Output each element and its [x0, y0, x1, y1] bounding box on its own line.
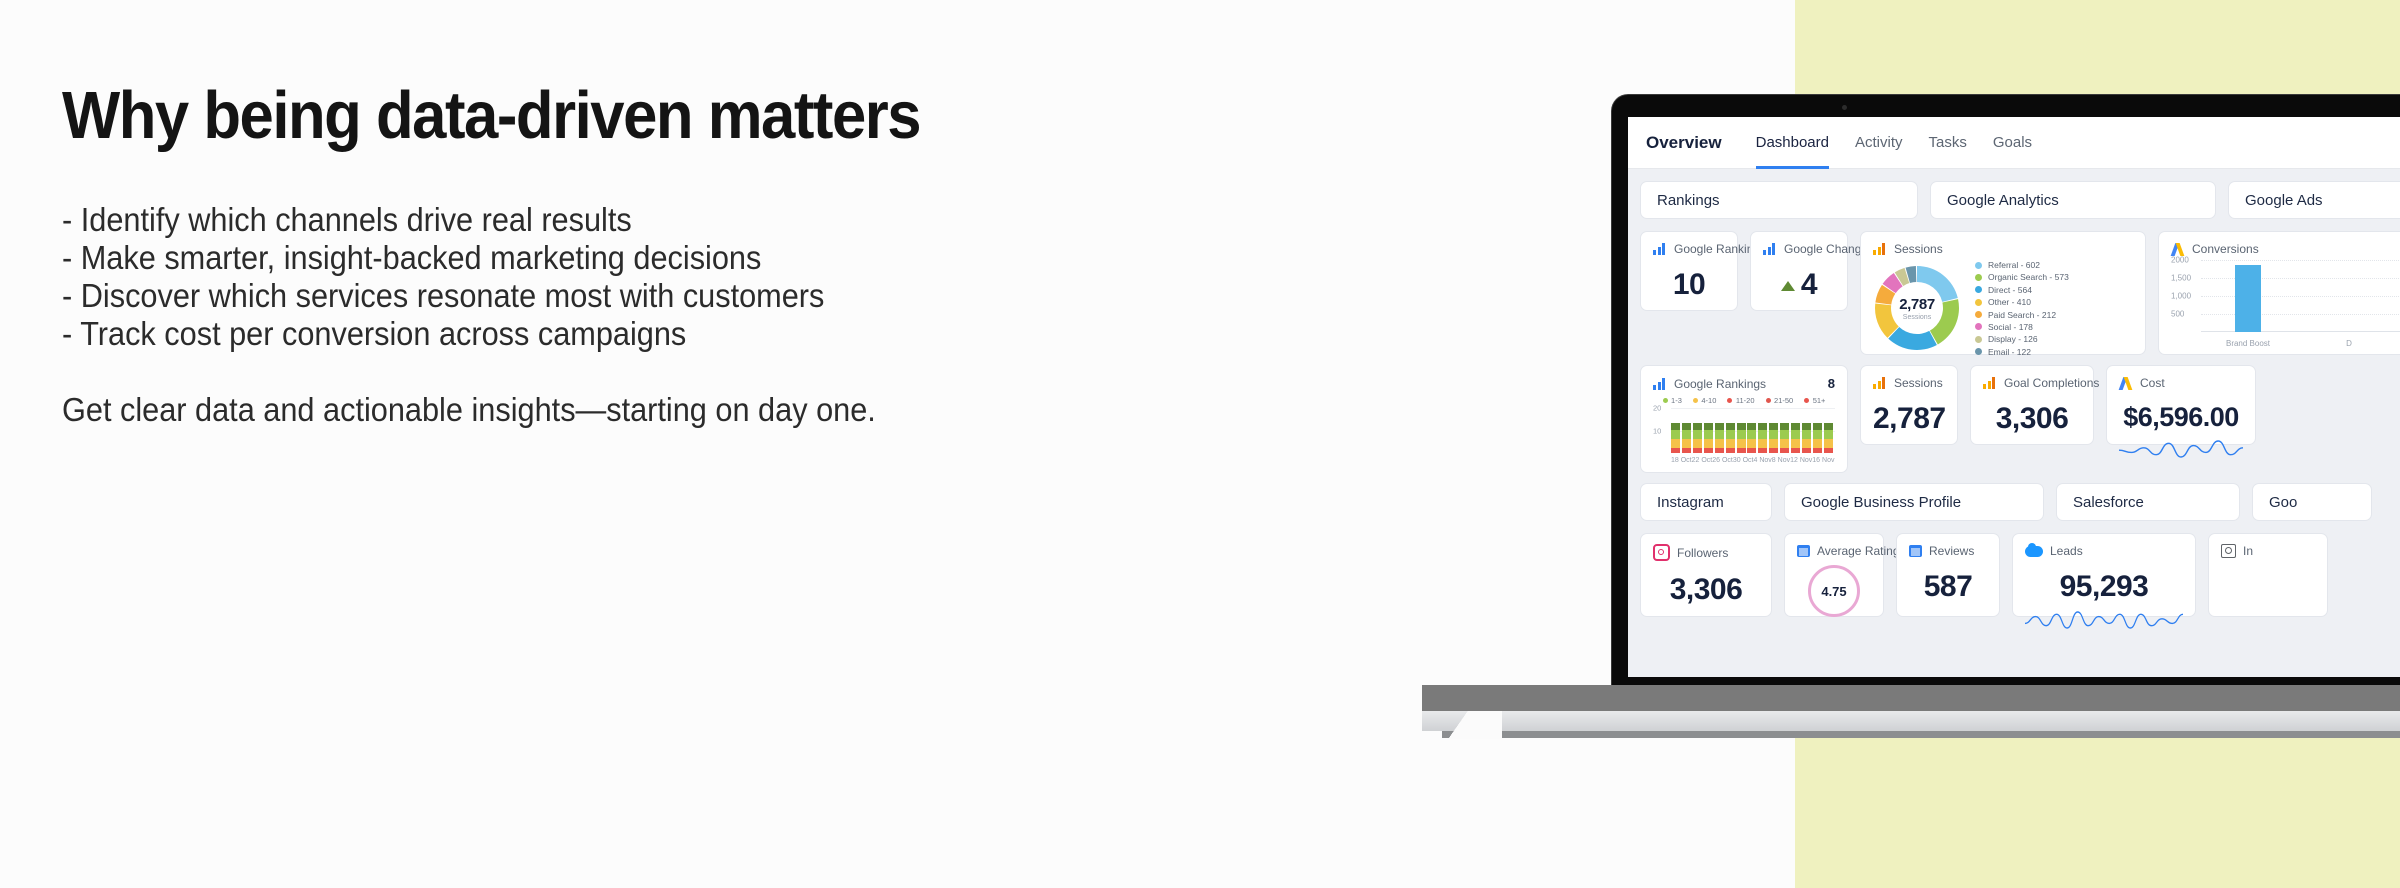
- card-title: Goal Completions: [1983, 376, 2081, 390]
- card-value: 4.75: [1821, 584, 1846, 599]
- bar-segment: [1758, 430, 1767, 439]
- section-google-ads[interactable]: Google Ads: [2228, 181, 2400, 219]
- bar-segment: [1704, 423, 1713, 430]
- card-label: Sessions: [1894, 242, 1943, 256]
- card-title: Followers: [1653, 544, 1759, 561]
- ga-bars-icon: [1983, 377, 1997, 389]
- rating-ring: 4.75: [1808, 565, 1860, 617]
- bar-segment: [1671, 439, 1680, 448]
- bar-segment: [1747, 448, 1756, 453]
- card-row-2: Google Rankings 8 1-34-1011-2021-5051+ 1…: [1640, 365, 2400, 473]
- laptop-screen: Overview Dashboard Activity Tasks Goals …: [1628, 117, 2400, 677]
- bar-segment: [1693, 430, 1702, 439]
- card-value: 3,306: [1983, 402, 2081, 436]
- card-title: Sessions: [1873, 376, 1945, 390]
- legend-item: 21-50: [1766, 396, 1794, 405]
- tab-dashboard[interactable]: Dashboard: [1756, 117, 1829, 169]
- legend-swatch: [1975, 323, 1982, 330]
- donut-center-label: Sessions: [1903, 314, 1931, 321]
- tab-activity[interactable]: Activity: [1855, 117, 1903, 169]
- bar-segment: [1747, 430, 1756, 439]
- legend-swatch: [1975, 274, 1982, 281]
- bar: [2235, 265, 2261, 332]
- stacked-bar: [1693, 419, 1702, 453]
- card-value: 3,306: [1653, 573, 1759, 607]
- card-title: Average Rating: [1797, 544, 1871, 558]
- ga-bars-icon: [1873, 377, 1887, 389]
- bar-segment: [1758, 448, 1767, 453]
- card-title: In: [2221, 544, 2315, 558]
- laptop-lid: Overview Dashboard Activity Tasks Goals …: [1612, 95, 2400, 685]
- bar-segment: [1791, 430, 1800, 439]
- y-tick-label: 2000: [2171, 256, 2189, 265]
- legend-swatch: [1975, 299, 1982, 306]
- list-item: - Make smarter, insight-backed marketing…: [62, 239, 992, 277]
- legend-swatch: [1975, 262, 1982, 269]
- card-title: Cost: [2119, 376, 2243, 390]
- legend-label: Paid Search - 212: [1988, 310, 2056, 320]
- bar-segment: [1726, 448, 1735, 453]
- sparkline-path: [2025, 612, 2183, 628]
- sparkline-path: [2119, 441, 2243, 457]
- bar-segment: [1813, 448, 1822, 453]
- legend-label: 51+: [1813, 396, 1826, 405]
- bar-segment: [1780, 423, 1789, 430]
- card-value: 10: [1653, 268, 1725, 302]
- stacked-bar: [1791, 419, 1800, 453]
- card-conversions[interactable]: Conversions 5001,0001,5002000Brand Boost…: [2158, 231, 2400, 355]
- legend-label: 21-50: [1774, 396, 1793, 405]
- stacked-bar: [1715, 419, 1724, 453]
- bar-segment: [1824, 430, 1833, 439]
- x-axis-line: [2201, 331, 2400, 332]
- trend-up-icon: [1781, 281, 1795, 291]
- bar-segment: [1780, 430, 1789, 439]
- card-title: Google Change: [1763, 242, 1835, 256]
- x-tick-label: Brand Boost: [2226, 339, 2270, 348]
- bar-segment: [1824, 423, 1833, 430]
- card-label: Goal Completions: [2004, 376, 2099, 390]
- x-tick-label: 12 Nov: [1790, 457, 1812, 464]
- card-row-3: Followers 3,306 Average Rating 4.75: [1640, 533, 2400, 617]
- card-title: Google Rankings 8: [1653, 376, 1835, 391]
- card-value: 2,787: [1873, 402, 1945, 436]
- bar-segment: [1791, 448, 1800, 453]
- card-value-wrap: 4: [1763, 268, 1835, 302]
- legend-swatch: [1975, 286, 1982, 293]
- instagram-icon: [1653, 544, 1670, 561]
- tab-tasks[interactable]: Tasks: [1929, 117, 1967, 169]
- laptop-base-edge: [1422, 711, 2400, 731]
- bar-segment: [1715, 448, 1724, 453]
- stacked-bar: [1769, 419, 1778, 453]
- legend-swatch: [1975, 348, 1982, 355]
- list-item: - Identify which channels drive real res…: [62, 201, 992, 239]
- card-label: Average Rating: [1817, 544, 1900, 558]
- bar-segment: [1671, 423, 1680, 430]
- card-rankings-chart[interactable]: Google Rankings 8 1-34-1011-2021-5051+ 1…: [1640, 365, 1848, 473]
- stacked-bar: [1747, 419, 1756, 453]
- legend-item: 11-20: [1727, 396, 1754, 405]
- y-tick-label: 500: [2171, 310, 2184, 319]
- bar-segment: [1769, 439, 1778, 448]
- tab-overview[interactable]: Overview: [1646, 117, 1722, 169]
- legend-swatch: [1727, 398, 1732, 403]
- x-tick-label: 26 Oct: [1712, 457, 1733, 464]
- x-axis-labels: 18 Oct22 Oct26 Oct30 Oct4 Nov8 Nov12 Nov…: [1671, 457, 1833, 464]
- bar-chart-icon: [1653, 243, 1667, 255]
- bar-segment: [1780, 448, 1789, 453]
- card-label: Google Rankings: [1674, 377, 1766, 391]
- bar-segment: [1802, 439, 1811, 448]
- legend-label: Social - 178: [1988, 322, 2033, 332]
- section-header-row-1: Rankings Google Analytics Google Ads: [1640, 181, 2400, 219]
- bar-segment: [1737, 423, 1746, 430]
- legend-label: 4-10: [1701, 396, 1716, 405]
- gridline: [1671, 408, 1835, 409]
- bar-segment: [1726, 423, 1735, 430]
- sessions-donut-chart: 2,787 Sessions: [1873, 264, 1961, 352]
- legend-label: Organic Search - 573: [1988, 272, 2069, 282]
- legend-swatch: [1766, 398, 1771, 403]
- legend-item: Paid Search - 212: [1975, 310, 2069, 320]
- card-followers[interactable]: Followers 3,306: [1640, 533, 1772, 617]
- section-salesforce[interactable]: Salesforce: [2056, 483, 2240, 521]
- legend-item: Other - 410: [1975, 297, 2069, 307]
- bar-segment: [1693, 448, 1702, 453]
- slide-copy: Why being data-driven matters - Identify…: [62, 82, 1062, 429]
- legend-item: Email - 122: [1975, 347, 2069, 357]
- bar-segment: [1715, 439, 1724, 448]
- dashboard-body: Rankings Google Analytics Google Ads Goo…: [1628, 169, 2400, 639]
- card-label: Cost: [2140, 376, 2165, 390]
- bar-segment: [1704, 448, 1713, 453]
- bar-segment: [1802, 423, 1811, 430]
- card-label: Leads: [2050, 544, 2083, 558]
- bar-segment: [1704, 430, 1713, 439]
- legend-item: 4-10: [1693, 396, 1717, 405]
- bar-segment: [1769, 430, 1778, 439]
- card-title: Leads: [2025, 544, 2183, 558]
- legend-swatch: [1975, 336, 1982, 343]
- card-sessions[interactable]: Sessions 2,787: [1860, 365, 1958, 445]
- card-row-1: Google Rankings 10 Google Change 4: [1640, 231, 2400, 355]
- laptop-mockup: Overview Dashboard Activity Tasks Goals …: [1612, 95, 2400, 735]
- bar-segment: [1791, 439, 1800, 448]
- card-value: $6,596.00: [2119, 402, 2243, 433]
- bar-segment: [1824, 448, 1833, 453]
- legend-item: Direct - 564: [1975, 285, 2069, 295]
- card-label: Sessions: [1894, 376, 1943, 390]
- legend-label: 1-3: [1671, 396, 1682, 405]
- card-value: 587: [1909, 570, 1987, 604]
- slide-canvas: Why being data-driven matters - Identify…: [0, 0, 2400, 888]
- bar-segment: [1682, 448, 1691, 453]
- legend-item: Display - 126: [1975, 334, 2069, 344]
- bar-segment: [1693, 423, 1702, 430]
- card-sessions-donut[interactable]: Sessions 2,787 Sessions: [1860, 231, 2146, 355]
- legend-item: Social - 178: [1975, 322, 2069, 332]
- conversions-bar-chart: 5001,0001,5002000Brand BoostD: [2171, 260, 2400, 348]
- bar-chart-icon: [1763, 243, 1777, 255]
- search-console-icon: [2221, 544, 2236, 558]
- legend-item: 51+: [1804, 396, 1825, 405]
- list-item: - Track cost per conversion across campa…: [62, 315, 992, 353]
- x-tick-label: 22 Oct: [1692, 457, 1713, 464]
- legend-swatch: [1693, 398, 1698, 403]
- x-tick-label: 4 Nov: [1754, 457, 1772, 464]
- gridline: [2201, 278, 2400, 279]
- legend-label: Display - 126: [1988, 334, 2038, 344]
- laptop-base-shadow: [1442, 731, 2400, 738]
- bar-segment: [1780, 439, 1789, 448]
- bar-segment: [1813, 423, 1822, 430]
- bar-segment: [1682, 423, 1691, 430]
- card-label: Conversions: [2192, 242, 2259, 256]
- card-title: Conversions: [2171, 242, 2400, 256]
- legend-label: Email - 122: [1988, 347, 2031, 357]
- card-label: Reviews: [1929, 544, 1974, 558]
- stacked-bar: [1802, 419, 1811, 453]
- laptop-base-top: [1422, 685, 2400, 711]
- legend-label: Other - 410: [1988, 297, 2031, 307]
- card-label: In: [2243, 544, 2253, 558]
- donut-chart-area: 2,787 Sessions Referral - 602Organic Sea…: [1873, 260, 2133, 357]
- bar-segment: [1747, 423, 1756, 430]
- webcam-icon: [1842, 105, 1847, 110]
- legend-swatch: [1663, 398, 1668, 403]
- bar-segment: [1769, 448, 1778, 453]
- y-tick-label: 20: [1653, 404, 1661, 413]
- card-insights[interactable]: In: [2208, 533, 2328, 617]
- bar-segment: [1726, 430, 1735, 439]
- gbp-icon: [1797, 545, 1810, 557]
- card-goal-completions[interactable]: Goal Completions 3,306: [1970, 365, 2094, 445]
- bar-segment: [1802, 448, 1811, 453]
- legend-label: 11-20: [1736, 396, 1755, 405]
- card-label: Followers: [1677, 546, 1728, 560]
- x-tick-label: D: [2346, 339, 2352, 348]
- bar-segment: [1726, 439, 1735, 448]
- stacked-bar: [1737, 419, 1746, 453]
- card-google-change[interactable]: Google Change 4: [1750, 231, 1848, 311]
- page-title: Why being data-driven matters: [62, 82, 982, 149]
- stacked-bar: [1813, 419, 1822, 453]
- closing-statement: Get clear data and actionable insights—s…: [62, 391, 992, 429]
- card-title: Reviews: [1909, 544, 1987, 558]
- y-tick-label: 1,500: [2171, 274, 2191, 283]
- google-ads-icon: [2119, 377, 2133, 390]
- bar-segment: [1813, 439, 1822, 448]
- bar-segment: [1824, 439, 1833, 448]
- bar-segment: [1682, 439, 1691, 448]
- legend-item: 1-3: [1663, 396, 1682, 405]
- leads-sparkline: [2025, 608, 2183, 630]
- section-instagram[interactable]: Instagram: [1640, 483, 1772, 521]
- bar-segment: [1682, 430, 1691, 439]
- card-cost[interactable]: Cost $6,596.00: [2106, 365, 2256, 445]
- bar-segment: [1737, 430, 1746, 439]
- donut-legend: Referral - 602Organic Search - 573Direct…: [1975, 260, 2069, 357]
- card-value: 8: [1828, 376, 1835, 391]
- bar-segment: [1671, 430, 1680, 439]
- stacked-bars: [1671, 419, 1833, 453]
- cost-sparkline: [2119, 437, 2243, 459]
- tab-bar: Overview Dashboard Activity Tasks Goals: [1646, 117, 2032, 169]
- stacked-bar: [1726, 419, 1735, 453]
- donut-center-value: 2,787: [1899, 296, 1935, 313]
- ga-bars-icon: [1873, 243, 1887, 255]
- card-value: 95,293: [2025, 570, 2183, 604]
- bar-segment: [1737, 439, 1746, 448]
- bar-segment: [1704, 439, 1713, 448]
- gridline: [2201, 296, 2400, 297]
- bar-segment: [1671, 448, 1680, 453]
- bar-segment: [1813, 430, 1822, 439]
- list-item: - Discover which services resonate most …: [62, 277, 992, 315]
- gbp-icon: [1909, 545, 1922, 557]
- section-google-analytics[interactable]: Google Analytics: [1930, 181, 2216, 219]
- card-label: Google Change: [1784, 242, 1868, 256]
- legend-item: Referral - 602: [1975, 260, 2069, 270]
- x-tick-label: 30 Oct: [1733, 457, 1754, 464]
- legend-label: Referral - 602: [1988, 260, 2040, 270]
- stacked-bar: [1824, 419, 1833, 453]
- salesforce-icon: [2025, 546, 2043, 557]
- section-google-business-profile[interactable]: Google Business Profile: [1784, 483, 2044, 521]
- tab-goals[interactable]: Goals: [1993, 117, 2032, 169]
- bar-segment: [1715, 430, 1724, 439]
- legend-swatch: [1975, 311, 1982, 318]
- section-header-row-2: Instagram Google Business Profile Salesf…: [1640, 483, 2400, 521]
- stacked-bar: [1671, 419, 1680, 453]
- bar-segment: [1693, 439, 1702, 448]
- bar-segment: [1802, 430, 1811, 439]
- x-tick-label: 18 Oct: [1671, 457, 1692, 464]
- card-reviews[interactable]: Reviews 587: [1896, 533, 2000, 617]
- card-leads[interactable]: Leads 95,293: [2012, 533, 2196, 617]
- app-toolbar: Overview Dashboard Activity Tasks Goals …: [1628, 117, 2400, 169]
- bar-segment: [1791, 423, 1800, 430]
- bar-segment: [1715, 423, 1724, 430]
- card-average-rating[interactable]: Average Rating 4.75: [1784, 533, 1884, 617]
- bar-chart-icon: [1653, 378, 1667, 390]
- google-ads-icon: [2171, 243, 2185, 256]
- card-value: 4: [1801, 268, 1817, 301]
- section-rankings[interactable]: Rankings: [1640, 181, 1918, 219]
- donut-slice: [1888, 327, 1937, 350]
- stacked-bar: [1758, 419, 1767, 453]
- y-tick-label: 1,000: [2171, 292, 2191, 301]
- bar-segment: [1747, 439, 1756, 448]
- card-google-rankings[interactable]: Google Rankings 10: [1640, 231, 1738, 311]
- bar-segment: [1758, 423, 1767, 430]
- laptop-base-bevel: [1422, 711, 1502, 739]
- section-google-search-console[interactable]: Goo: [2252, 483, 2372, 521]
- bar-segment: [1737, 448, 1746, 453]
- stacked-bar: [1704, 419, 1713, 453]
- y-tick-label: 10: [1653, 426, 1661, 435]
- card-title: Sessions: [1873, 242, 2133, 256]
- x-tick-label: 16 Nov: [1812, 457, 1834, 464]
- rankings-legend: 1-34-1011-2021-5051+: [1653, 396, 1835, 405]
- bar-segment: [1769, 423, 1778, 430]
- legend-item: Organic Search - 573: [1975, 272, 2069, 282]
- benefits-list: - Identify which channels drive real res…: [62, 201, 1062, 353]
- legend-swatch: [1804, 398, 1809, 403]
- card-title: Google Rankings: [1653, 242, 1725, 256]
- gridline: [2201, 314, 2400, 315]
- x-tick-label: 8 Nov: [1772, 457, 1790, 464]
- legend-label: Direct - 564: [1988, 285, 2032, 295]
- rankings-stacked-chart: 102018 Oct22 Oct26 Oct30 Oct4 Nov8 Nov12…: [1653, 408, 1835, 464]
- gridline: [2201, 260, 2400, 261]
- bar-segment: [1758, 439, 1767, 448]
- stacked-bar: [1682, 419, 1691, 453]
- stacked-bar: [1780, 419, 1789, 453]
